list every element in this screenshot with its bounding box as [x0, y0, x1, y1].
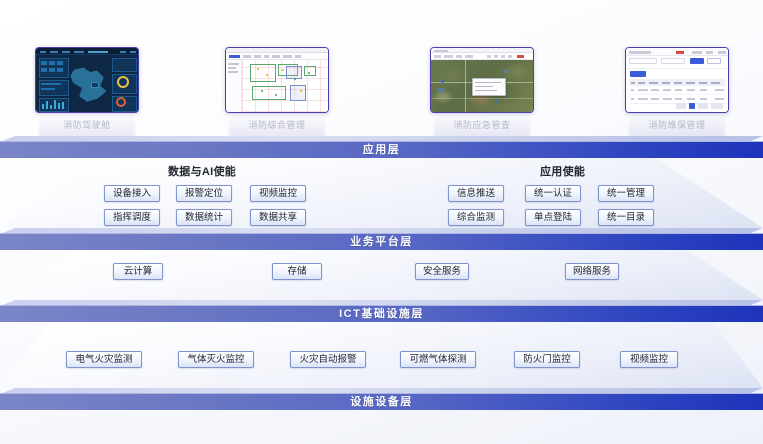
capsule-data-sharing[interactable]: 数据共享: [250, 209, 306, 226]
thumbnail-caption: 消防综合管理: [225, 118, 329, 131]
thumbnail-caption: 消防驾驶舱: [35, 118, 139, 131]
cad-floorplan-preview: [226, 48, 328, 112]
capsule-storage[interactable]: 存储: [272, 263, 322, 280]
section-title-data-ai-enablement: 数据与AI使能: [168, 163, 236, 179]
capsule-single-sign-on[interactable]: 单点登陆: [525, 209, 581, 226]
capsule-fire-door-monitoring[interactable]: 防火门监控: [514, 351, 580, 368]
layer-bar-front-face: 设施设备层: [0, 393, 763, 410]
cad-canvas: [242, 60, 328, 112]
capsule-cloud-computing[interactable]: 云计算: [113, 263, 163, 280]
layer-bar-application[interactable]: 应用层: [0, 136, 763, 158]
architecture-diagram: 消防驾驶舱: [0, 0, 763, 444]
capsule-data-statistics[interactable]: 数据统计: [176, 209, 232, 226]
table-filter-bar: [626, 56, 728, 69]
cad-menubar: [226, 53, 328, 60]
capsule-combustible-gas-detection[interactable]: 可燃气体探测: [400, 351, 476, 368]
capsule-automatic-fire-alarm[interactable]: 火灾自动报警: [290, 351, 366, 368]
capsule-security-service[interactable]: 安全服务: [415, 263, 469, 280]
layer-bar-ict-infrastructure[interactable]: ICT基础设施层: [0, 300, 763, 322]
table-column-headers: [629, 79, 725, 86]
thumbnail-fire-integrated-management[interactable]: 消防综合管理: [225, 47, 329, 131]
capsule-network-service[interactable]: 网络服务: [565, 263, 619, 280]
thumbnail-caption: 消防维保管理: [625, 118, 729, 131]
layer-bar-front-face: ICT基础设施层: [0, 305, 763, 322]
thumbnail-frame: [625, 47, 729, 113]
capsule-electrical-fire-monitoring[interactable]: 电气火灾监测: [66, 351, 142, 368]
capsule-video-surveillance-device[interactable]: 视频监控: [620, 351, 678, 368]
satellite-imagery: [431, 60, 533, 112]
capsule-unified-directory[interactable]: 统一目录: [598, 209, 654, 226]
dark-dashboard-preview: [36, 48, 138, 112]
capsule-device-access[interactable]: 设备接入: [104, 185, 160, 202]
thumbnail-frame: [430, 47, 534, 113]
thumbnail-caption: 消防应急管查: [430, 118, 534, 131]
capsule-gas-extinguishing-monitoring[interactable]: 气体灭火监控: [178, 351, 254, 368]
map-toolbar: [431, 53, 533, 60]
satellite-map-preview: [431, 48, 533, 112]
table-header-bar: [626, 48, 728, 56]
thumbnail-frame: [35, 47, 139, 113]
table-pagination[interactable]: [676, 103, 724, 109]
capsule-integrated-monitoring[interactable]: 综合监测: [448, 209, 504, 226]
capsule-command-dispatch[interactable]: 指挥调度: [104, 209, 160, 226]
dashboard-topbar: [36, 48, 138, 55]
layer-bar-business-platform[interactable]: 业务平台层: [0, 228, 763, 250]
layer-bar-facility-device[interactable]: 设施设备层: [0, 388, 763, 410]
thumbnail-fire-maintenance-management[interactable]: 消防维保管理: [625, 47, 729, 131]
capsule-alarm-location[interactable]: 报警定位: [176, 185, 232, 202]
table-row[interactable]: [629, 86, 725, 95]
layer-bar-label: ICT基础设施层: [339, 309, 424, 320]
application-screenshot-strip: 消防驾驶舱: [0, 0, 763, 135]
capsule-unified-auth[interactable]: 统一认证: [525, 185, 581, 202]
layer-bar-label: 应用层: [363, 145, 401, 156]
thumbnail-fire-emergency-inspection[interactable]: 消防应急管查: [430, 47, 534, 131]
layer-bar-front-face: 业务平台层: [0, 233, 763, 250]
capsule-video-surveillance-app[interactable]: 视频监控: [250, 185, 306, 202]
capsule-message-push[interactable]: 信息推送: [448, 185, 504, 202]
layer-bar-label: 设施设备层: [350, 397, 413, 408]
capsule-unified-management[interactable]: 统一管理: [598, 185, 654, 202]
layer-bar-front-face: 应用层: [0, 141, 763, 158]
thumbnail-fire-cockpit[interactable]: 消防驾驶舱: [35, 47, 139, 131]
data-table-preview: [626, 48, 728, 112]
section-title-application-enablement: 应用使能: [540, 163, 585, 179]
map-info-popup: [472, 78, 506, 96]
cad-sidebar: [226, 60, 242, 112]
region-map-shape: [66, 66, 110, 104]
layer-bar-label: 业务平台层: [350, 237, 413, 248]
thumbnail-frame: [225, 47, 329, 113]
table-add-button[interactable]: [630, 71, 646, 77]
